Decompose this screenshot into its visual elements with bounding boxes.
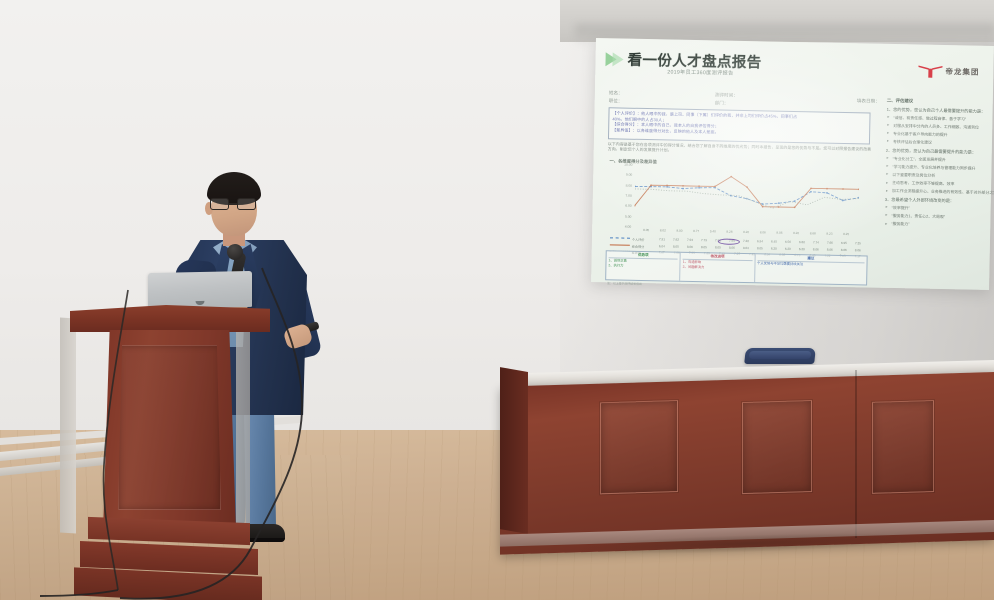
- chart-data-point: [858, 188, 859, 190]
- chart-legend-value: 6.20: [785, 247, 791, 251]
- chart-legend-value: 8.06: [827, 247, 833, 251]
- projection-screen: 看一份人才盘点报告 2019年员工360度测评报告 帝龙集团 姓名： 职位： 测…: [591, 38, 994, 290]
- chart-legend-value: 8.06: [687, 245, 693, 249]
- right-bullet: 专业化基于客户导向能力的提升: [893, 131, 986, 139]
- chart-legend-value: 8.05: [757, 246, 763, 250]
- chart-legend-value: 7.66: [827, 241, 833, 245]
- right-bullet: 对服从安排中分内的人员多、工作细致、沟通到位: [893, 123, 986, 131]
- podium-panel: [118, 345, 221, 510]
- desk-panel: [742, 400, 812, 494]
- right-bullet: 考核评估后合理化建议: [893, 139, 986, 147]
- chart-legend-label: 综合得分: [632, 243, 644, 248]
- table-cell: 个人优势与不足均需要持续关注: [757, 261, 865, 268]
- chart-x-tick: 8.68: [810, 231, 816, 235]
- right-groups: 1、您的优势，您认为自己个人最需要提升的能力是：“诚信、有责任感、做过程自律、善…: [884, 107, 986, 229]
- chart-y-tick: 10.00: [624, 163, 632, 167]
- chart-x-tick: 8.77: [693, 229, 699, 233]
- right-bullet: “效率提升”: [892, 205, 985, 213]
- chart-legend-value: 6.04: [659, 244, 665, 248]
- chart-data-point: [826, 188, 828, 190]
- chart-y-tick: 8.00: [626, 183, 633, 187]
- chart-legend-value: 8.05: [673, 244, 679, 248]
- podium-side-left: [60, 317, 76, 533]
- chart-legend-value: 6.45: [771, 240, 777, 244]
- logo-text: 帝龙集团: [945, 66, 979, 78]
- right-group-number: 3、您最希望个人外部环境改变的是：: [885, 197, 985, 205]
- podium-side-right: [236, 330, 250, 531]
- chart-x-tick: 8.28: [726, 230, 732, 234]
- chart-data-point: [634, 185, 636, 187]
- chart-plot-area: [634, 165, 859, 231]
- laptop[interactable]: [148, 271, 252, 309]
- chart-y-tick: 6.00: [625, 204, 632, 208]
- chart-legend-value: 6.20: [771, 246, 777, 250]
- chart-x-tick: 8.23: [826, 232, 832, 236]
- eyeglasses-icon: [210, 198, 258, 210]
- right-bullet: “专业化分工”、全面发展并提升: [893, 156, 986, 164]
- chart-legend-value: 7.74: [813, 241, 819, 245]
- chart-y-axis: 10.009.008.007.006.005.004.00: [610, 164, 633, 226]
- table-note: 注：以上基于测评结果得出: [607, 281, 642, 286]
- highlight-box: 【个人评价】：他人眼中的我，是上司、同事（下属）们评价的我，并非上司们评价占45…: [608, 107, 871, 144]
- chart-legend-value: 6.94: [757, 240, 763, 244]
- company-logo: 帝龙集团: [918, 64, 979, 78]
- logo-mark-icon: [918, 64, 942, 77]
- slide-subtitle: 2019年员工360度测评报告: [667, 68, 733, 76]
- table-cell: 2、问题解决力: [683, 264, 752, 270]
- chart-legend-value: 7.25: [855, 242, 861, 246]
- chart-legend-value: 7.79: [701, 239, 707, 243]
- chart-legend-swatch: [610, 244, 630, 247]
- right-heading: 二、评估建议: [887, 98, 987, 106]
- line-chart: 10.009.008.007.006.005.004.00 8.058.028.…: [610, 164, 862, 247]
- chart-y-tick: 4.00: [625, 225, 632, 229]
- chart-data-point: [698, 187, 700, 189]
- chart-data-point: [682, 188, 684, 190]
- projected-slide: 看一份人才盘点报告 2019年员工360度测评报告 帝龙集团 姓名： 职位： 测…: [591, 38, 994, 290]
- table-cell: 2、执行力: [608, 263, 677, 269]
- eyeglass-lens-left: [210, 198, 229, 210]
- eyeglass-bridge: [229, 203, 237, 205]
- chart-legend-value: 8.06: [855, 248, 861, 252]
- chart-legend-value: 9.04: [743, 246, 749, 250]
- chart-x-tick: 8.05: [643, 228, 649, 232]
- chart-legend-value: 8.05: [701, 245, 707, 249]
- chart-x-tick: 8.00: [676, 229, 682, 233]
- chart-data-point: [698, 185, 700, 187]
- chart-legend-value: 6.95: [841, 241, 847, 245]
- form-position-label: 职位：: [609, 98, 623, 104]
- chart-x-tick: 8.06: [776, 231, 782, 235]
- right-bullet: 以下重要职责及岗位分析: [892, 172, 985, 180]
- chart-legend-value: 8.06: [813, 247, 819, 251]
- right-bullet: 加工作业流程提升心、业务推进的有效性、基于对外部分之实际执行力: [892, 188, 985, 196]
- chart-y-tick: 7.00: [625, 194, 632, 198]
- table-col-strengths: 优势项 1、诚信正直 2、执行力: [606, 251, 681, 280]
- chart-legend-swatch: [610, 238, 630, 241]
- chart-y-tick: 9.00: [626, 173, 633, 177]
- chart-data-point: [842, 188, 844, 190]
- desk-seam: [855, 370, 857, 538]
- desk-panel: [600, 400, 678, 494]
- chart-legend-value: 7.91: [659, 238, 665, 242]
- chart-legend-value: 7.93: [687, 238, 693, 242]
- chart-x-tick: 8.06: [760, 230, 766, 234]
- desk-left-end: [500, 367, 528, 534]
- desk-panel: [872, 400, 934, 494]
- slide-right-column: 二、评估建议 1、您的优势，您认为自己个人最需要提升的能力是：“诚信、有责任感、…: [884, 96, 987, 231]
- chart-x-tick: 8.25: [843, 232, 849, 236]
- chart-data-point: [666, 185, 668, 187]
- chart-x-tick: 8.20: [743, 230, 749, 234]
- right-bullet: “服务能力”: [891, 221, 984, 229]
- chart-series-line: [635, 175, 860, 210]
- chart-data-point: [778, 202, 780, 204]
- right-group-number: 1、您的优势，您认为自己个人最需要提升的能力是：: [887, 107, 987, 115]
- form-name-label: 姓名：: [609, 90, 623, 96]
- chart-legend-value: 8.06: [841, 248, 847, 252]
- chart-y-tick: 5.00: [625, 214, 632, 218]
- chart-x-tick: 8.20: [793, 231, 799, 235]
- right-bullet: “服务能力1、责任心2、大局观”: [891, 213, 984, 221]
- form-dept-label: 部门：: [715, 100, 729, 106]
- chart-legend-value: 8.06: [729, 245, 735, 249]
- table-col-suggestions: 建议 个人优势与不足均需要持续关注: [755, 254, 867, 284]
- chart-x-tick: 8.02: [660, 228, 666, 232]
- chart-legend-value: 7.92: [673, 238, 679, 242]
- slide-header: 看一份人才盘点报告 2019年员工360度测评报告 帝龙集团: [605, 46, 986, 96]
- chevron-accent-icon-2: [612, 52, 623, 66]
- form-evaluator-label: 测评时间：: [715, 92, 738, 98]
- chart-data-point: [682, 185, 684, 187]
- chart-svg: [634, 165, 859, 231]
- table-col-improvements: 待改进项 1、沟通影响 2、问题解决力: [680, 253, 755, 282]
- eyeglass-lens-right: [237, 198, 256, 210]
- chart-legend-value: 6.80: [799, 241, 805, 245]
- chart-legend-value: 6.20: [799, 247, 805, 251]
- chart-legend-value: 6.56: [785, 240, 791, 244]
- office-chair: [744, 348, 816, 364]
- right-bullet: 主动思考、工作效率不够提高、效率: [892, 180, 985, 188]
- chart-legend-label: 个人评价: [632, 237, 644, 242]
- presentation-scene: 看一份人才盘点报告 2019年员工360度测评报告 帝龙集团 姓名： 职位： 测…: [0, 0, 994, 600]
- right-bullet: “学习能力提升、专业化培养与管理能力同步提升: [892, 164, 985, 172]
- form-date-label: 填表日期：: [857, 98, 880, 104]
- summary-table: 优势项 1、诚信正直 2、执行力 待改进项 1、沟通影响 2、问题解决力 建议 …: [605, 250, 868, 285]
- chart-x-tick: 9.40: [710, 229, 716, 233]
- right-bullet: “诚信、有责任感、做过程自律、善于学习”: [893, 114, 986, 122]
- chart-legend-value: 7.20: [743, 239, 749, 243]
- chart-legend-value: 8.05: [715, 245, 721, 249]
